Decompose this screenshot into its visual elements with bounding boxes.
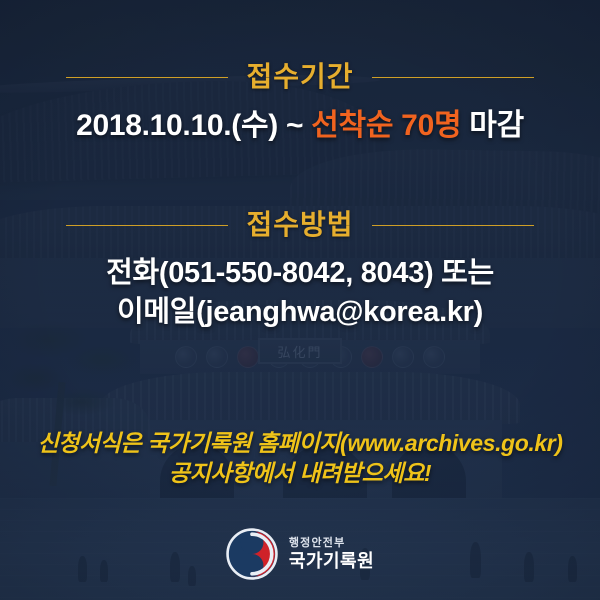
method-detail-block: 전화(051-550-8042, 8043) 또는 이메일(jeanghwa@k… [0,254,600,332]
period-deadline-text: 마감 [461,109,524,142]
logo-agency-name: 국가기록원 [289,552,374,570]
note-line-2: 공지사항에서 내려받으세요! [0,458,600,488]
period-date-text: 2018.10.10.(수) ~ [76,109,311,142]
divider-rule-left [66,77,228,78]
method-phone-line: 전화(051-550-8042, 8043) 또는 [0,254,600,293]
taegeuk-icon [226,528,278,580]
divider-rule-left [66,225,228,226]
section-heading-method: 접수방법 [0,211,600,239]
divider-rule-right [372,225,534,226]
period-detail-line: 2018.10.10.(수) ~ 선착순 70명 마감 [0,107,600,145]
logo-ministry-name: 행정안전부 [289,538,374,549]
method-email-line: 이메일(jeanghwa@korea.kr) [0,293,600,332]
period-quota-text: 선착순 70명 [311,109,461,142]
divider-rule-right [372,77,534,78]
note-line-1: 신청서식은 국가기록원 홈페이지(www.archives.go.kr) [0,428,600,458]
poster-canvas: 弘化門 접수기간 2018.10.10.(수) ~ 선착순 70명 마감 [0,0,600,600]
section-heading-period: 접수기간 [0,63,600,91]
section-title-method: 접수방법 [246,211,353,239]
section-title-period: 접수기간 [246,63,353,91]
poster-content: 접수기간 2018.10.10.(수) ~ 선착순 70명 마감 접수방법 전화… [0,0,600,600]
download-note: 신청서식은 국가기록원 홈페이지(www.archives.go.kr) 공지사… [0,428,600,489]
logo-wordmark: 행정안전부 국가기록원 [289,538,374,570]
government-logo: 행정안전부 국가기록원 [0,528,600,580]
